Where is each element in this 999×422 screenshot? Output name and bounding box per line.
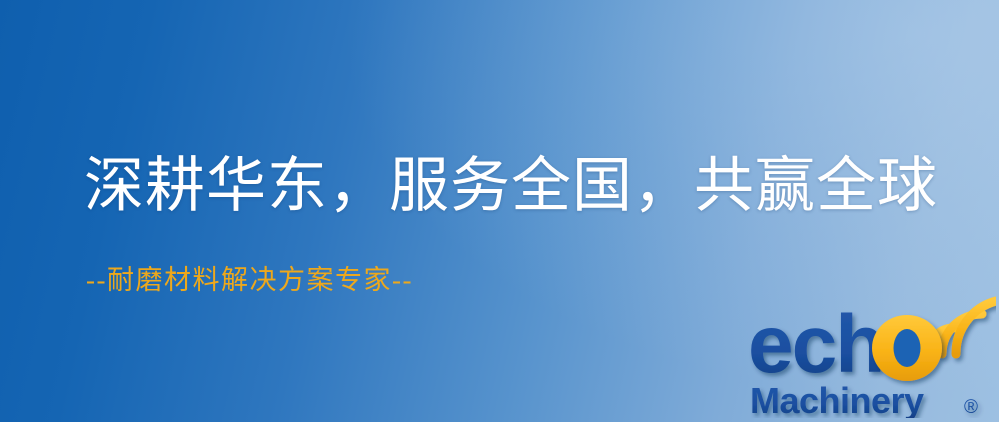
logo-wordmark-prefix: ech bbox=[748, 299, 883, 390]
logo-registered-mark: ® bbox=[964, 397, 978, 418]
hero-banner: 深耕华东，服务全国，共赢全球 --耐磨材料解决方案专家-- bbox=[0, 0, 999, 422]
echo-machinery-logo[interactable]: ech Machinery ® bbox=[748, 296, 996, 418]
logo-accent-o bbox=[872, 315, 942, 381]
logo-tagline: Machinery bbox=[750, 380, 924, 418]
banner-headline: 深耕华东，服务全国，共赢全球 bbox=[84, 150, 938, 222]
banner-subtitle: --耐磨材料解决方案专家-- bbox=[86, 263, 413, 297]
